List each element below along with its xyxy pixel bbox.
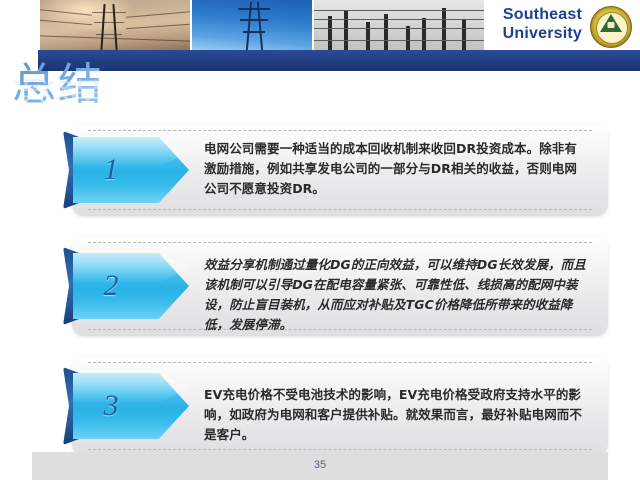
page-title-reflection: 总结 xyxy=(12,77,104,102)
header-banner: Southeast University xyxy=(0,0,640,50)
southeast-university-seal-icon xyxy=(590,6,632,48)
item-body-text: 电网公司需要一种适当的成本回收机制来收回DR投资成本。除非有激励措施，例如共享发… xyxy=(204,139,586,199)
pylon-silhouette-icon xyxy=(236,2,272,50)
transmission-tower-sunset-photo xyxy=(40,0,190,50)
brand-line-1: Southeast xyxy=(472,5,582,24)
electrical-substation-photo xyxy=(314,0,484,50)
panel-dashed-divider-bottom xyxy=(88,209,592,210)
presentation-slide: Southeast University 总结 总结 1 电网公司需要一种适当的… xyxy=(0,0,640,480)
slide-title-block: 总结 总结 xyxy=(12,62,272,120)
item-number-badge-2: 2 xyxy=(63,253,189,319)
slide-footer: 35 xyxy=(32,452,608,480)
pylon-silhouette-icon xyxy=(92,4,126,50)
page-number: 35 xyxy=(32,459,608,471)
item-body-text: 效益分享机制通过量化DG的正向效益，可以维持DG长效发展，而且该机制可以引导DG… xyxy=(204,255,586,335)
item-number-badge-3: 3 xyxy=(63,373,189,439)
panel-dashed-divider-top xyxy=(88,242,592,243)
item-number-badge-1: 1 xyxy=(63,137,189,203)
item-number-label: 1 xyxy=(63,137,159,203)
transmission-tower-blue-sky-photo xyxy=(192,0,312,50)
panel-dashed-divider-bottom xyxy=(88,449,592,450)
item-body-text: EV充电价格不受电池技术的影响，EV充电价格受政府支持水平的影响，如政府为电网和… xyxy=(204,385,586,445)
university-brand-text: Southeast University xyxy=(472,5,582,43)
item-number-label: 2 xyxy=(63,253,159,319)
brand-line-2: University xyxy=(472,24,582,43)
summary-item-3[interactable]: 3 EV充电价格不受电池技术的影响，EV充电价格受政府支持水平的影响，如政府为电… xyxy=(72,356,608,456)
summary-item-1[interactable]: 1 电网公司需要一种适当的成本回收机制来收回DR投资成本。除非有激励措施，例如共… xyxy=(72,124,608,216)
panel-dashed-divider-top xyxy=(88,130,592,131)
summary-item-2[interactable]: 2 效益分享机制通过量化DG的正向效益，可以维持DG长效发展，而且该机制可以引导… xyxy=(72,236,608,336)
item-number-label: 3 xyxy=(63,373,159,439)
panel-dashed-divider-top xyxy=(88,362,592,363)
